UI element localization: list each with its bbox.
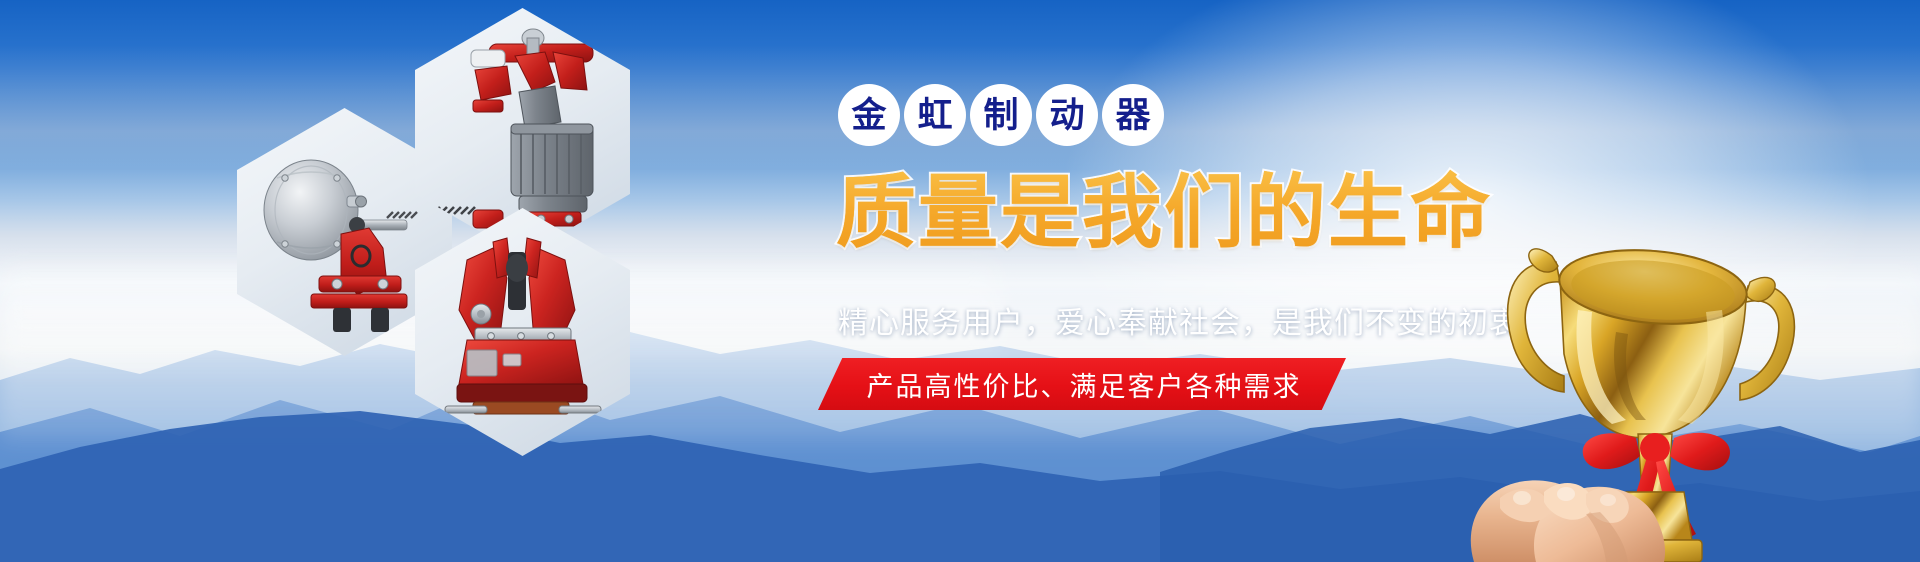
tagline-ribbon: 产品高性价比、满足客户各种需求 xyxy=(818,358,1346,410)
hands-holding-trophy xyxy=(1440,402,1770,562)
headline-stroke: 质量是我们的生命 xyxy=(836,148,1492,264)
brand-char-badge-1: 金 xyxy=(838,84,900,146)
tagline-ribbon-text: 产品高性价比、满足客户各种需求 xyxy=(863,365,1302,404)
brand-char-badge-2: 虹 xyxy=(904,84,966,146)
brand-char-badge-5: 器 xyxy=(1102,84,1164,146)
brand-char-badge-3: 制 xyxy=(970,84,1032,146)
product-hexagon-cluster xyxy=(215,0,645,440)
brand-char-badge-4: 动 xyxy=(1036,84,1098,146)
subtitle-text: 精心服务用户，爱心奉献社会，是我们不变的初衷 xyxy=(838,298,1520,342)
brand-name-badges: 金 虹 制 动 器 xyxy=(838,84,1164,146)
promotional-banner: 金 虹 制 动 器 质量是我们的生命 质量是我们的生命 精心服务用户，爱心奉献社… xyxy=(0,0,1920,562)
